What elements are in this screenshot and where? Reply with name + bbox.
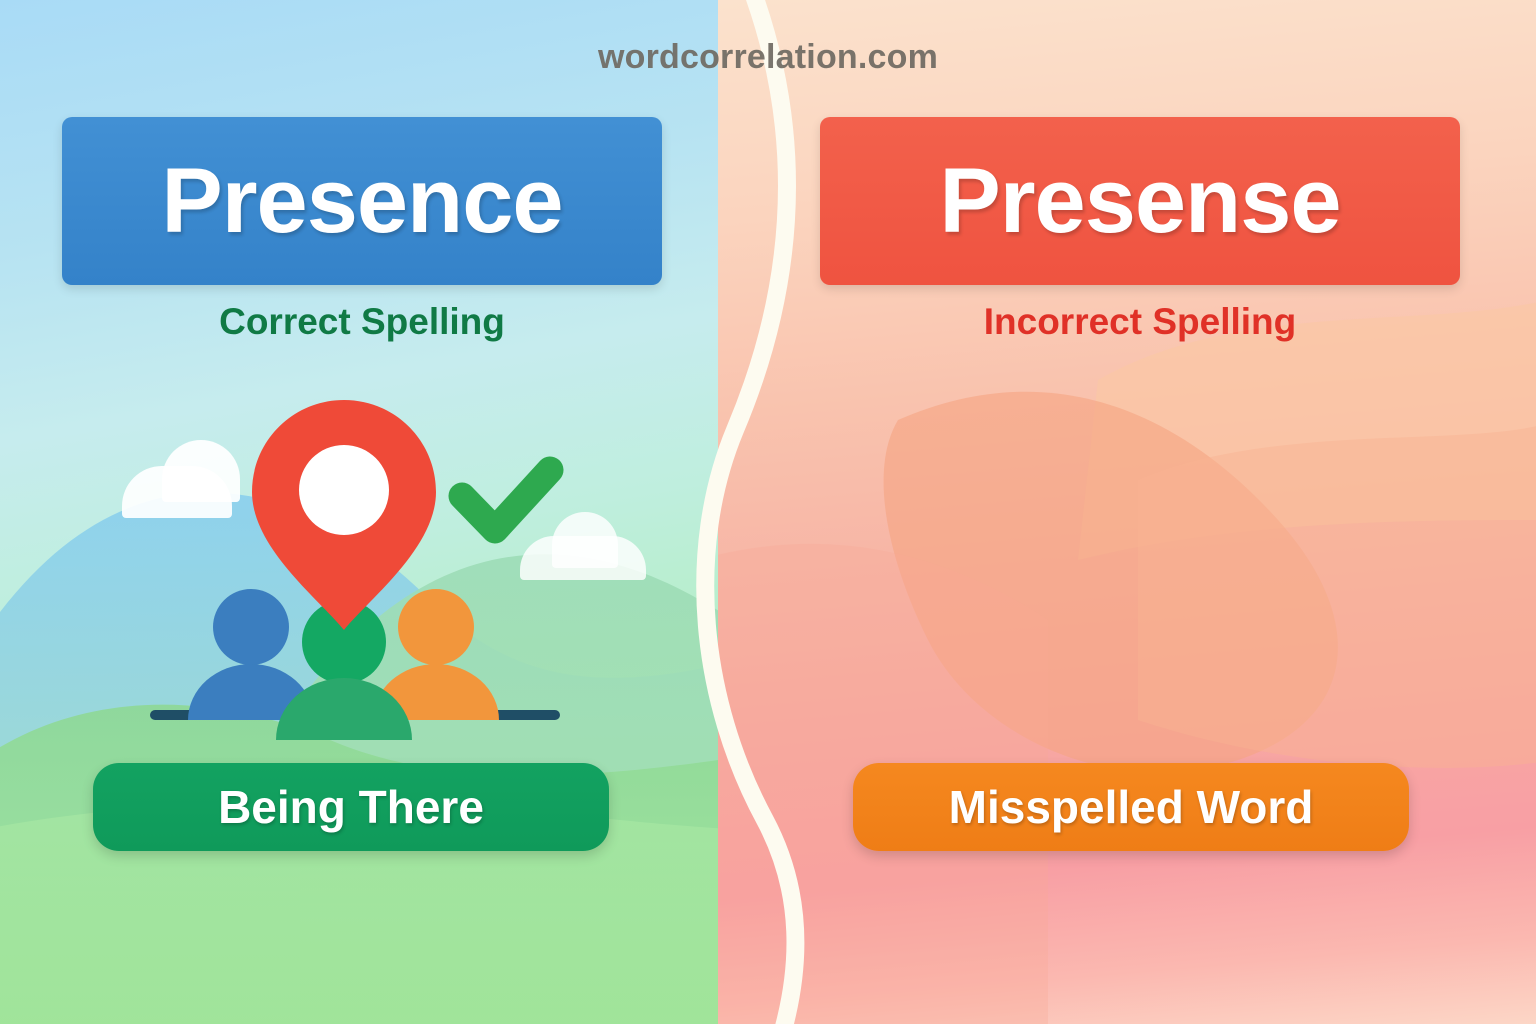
blob-right bbox=[1138, 420, 1536, 768]
correct-word-banner: Presence bbox=[62, 117, 662, 285]
incorrect-word-text: Presense bbox=[939, 155, 1340, 247]
incorrect-word-banner: Presense bbox=[820, 117, 1460, 285]
comparison-infographic: Presense wordcorrelation.com Presence Co… bbox=[0, 0, 1536, 1024]
correct-word-text: Presence bbox=[161, 155, 562, 247]
being-there-pill: Being There bbox=[93, 763, 609, 851]
being-there-text: Being There bbox=[218, 784, 484, 830]
correct-spelling-label: Correct Spelling bbox=[62, 303, 662, 340]
site-watermark: wordcorrelation.com bbox=[0, 38, 1536, 77]
check-mark-icon bbox=[462, 470, 550, 530]
misspelled-word-pill: Misspelled Word bbox=[853, 763, 1409, 851]
misspelled-word-text: Misspelled Word bbox=[949, 784, 1314, 830]
incorrect-spelling-label: Incorrect Spelling bbox=[820, 303, 1460, 340]
location-pin-icon bbox=[252, 400, 436, 630]
